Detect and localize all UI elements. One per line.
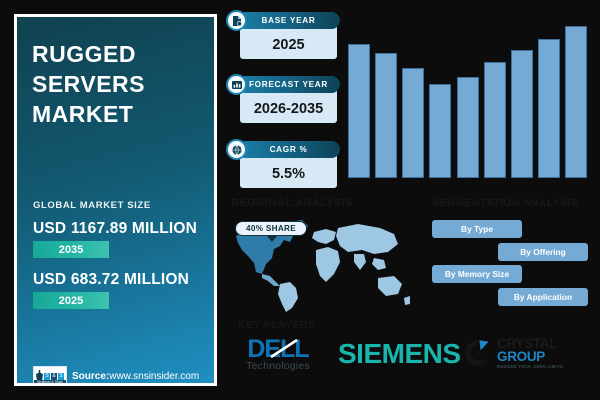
bar-chart-icon bbox=[226, 74, 247, 95]
segment-pill-by-type[interactable]: By Type bbox=[432, 220, 522, 238]
source-row: S&S Strategy & Stats Source:www.snsinsid… bbox=[33, 366, 199, 386]
bar-1 bbox=[348, 44, 370, 178]
infographic-root: RUGGED SERVERS MARKET GLOBAL MARKET SIZE… bbox=[0, 0, 600, 400]
source-text: Source:www.snsinsider.com bbox=[72, 371, 199, 382]
title-line-3: MARKET bbox=[32, 99, 207, 129]
kpi-label-cagr: CAGR % bbox=[237, 141, 340, 158]
bar-3 bbox=[402, 68, 424, 178]
sns-insider-logo-icon: S&S Strategy & Stats bbox=[33, 366, 67, 386]
crystal-tagline: RUGGED TECH. ZERO LIMITS. bbox=[497, 365, 564, 369]
map-region-new-zealand bbox=[404, 296, 410, 305]
source-prefix: Source: bbox=[72, 371, 109, 382]
bar-4 bbox=[429, 84, 451, 178]
bar-8 bbox=[538, 39, 560, 178]
bar-5 bbox=[457, 77, 479, 178]
world-map: 40% SHARE bbox=[228, 216, 413, 314]
bar-6 bbox=[484, 62, 506, 178]
map-region-asia bbox=[336, 224, 398, 254]
logo-siemens: SIEMENS bbox=[338, 338, 461, 370]
key-players-title: KEY PLAYERS bbox=[238, 319, 315, 331]
market-growth-bar-chart bbox=[348, 18, 587, 178]
globe-growth-icon bbox=[226, 139, 247, 160]
crystal-group-wordmark: CRYSTAL GROUP RUGGED TECH. ZERO LIMITS. bbox=[497, 337, 564, 369]
regional-analysis-title: REGIONAL ANALYSIS bbox=[231, 197, 353, 209]
title-line-1: RUGGED bbox=[32, 39, 207, 69]
bar-2 bbox=[375, 53, 397, 178]
global-market-size-label: GLOBAL MARKET SIZE bbox=[33, 200, 151, 211]
year-chip-2025: 2025 bbox=[33, 292, 109, 309]
logo-crystal-group: CRYSTAL GROUP RUGGED TECH. ZERO LIMITS. bbox=[463, 337, 564, 369]
map-region-australia bbox=[378, 276, 402, 296]
segment-pill-by-memory-size[interactable]: By Memory Size bbox=[432, 265, 522, 283]
bar-9 bbox=[565, 26, 587, 178]
crystal-line-2: GROUP bbox=[497, 350, 564, 364]
market-value-2035: USD 1167.89 MILLION bbox=[33, 220, 197, 238]
segment-pill-by-application[interactable]: By Application bbox=[498, 288, 588, 306]
segment-pill-by-offering[interactable]: By Offering bbox=[498, 243, 588, 261]
bar-7 bbox=[511, 50, 533, 178]
logo-dell: DELL Technologies bbox=[232, 336, 324, 372]
kpi-card-forecast-year[interactable]: FORECAST YEAR 2026-2035 bbox=[237, 76, 340, 123]
page-title: RUGGED SERVERS MARKET bbox=[32, 39, 207, 129]
source-url: www.snsinsider.com bbox=[109, 371, 199, 382]
map-region-europe bbox=[312, 229, 336, 244]
kpi-label-base-year: BASE YEAR bbox=[237, 12, 340, 29]
document-icon bbox=[226, 10, 247, 31]
segmentation-analysis-title: SEGMENTATION ANALYSIS bbox=[432, 197, 578, 209]
market-value-2025: USD 683.72 MILLION bbox=[33, 271, 189, 289]
kpi-label-forecast-year: FORECAST YEAR bbox=[237, 76, 340, 93]
crystal-group-mark-icon bbox=[463, 338, 493, 368]
title-line-2: SERVERS bbox=[32, 69, 207, 99]
share-callout-badge: 40% SHARE bbox=[235, 221, 307, 236]
map-region-africa bbox=[316, 247, 340, 282]
kpi-card-base-year[interactable]: BASE YEAR 2025 bbox=[237, 12, 340, 59]
dell-wordmark: DELL bbox=[247, 336, 308, 362]
dell-slash-icon bbox=[269, 339, 299, 359]
kpi-card-cagr[interactable]: CAGR % 5.5% bbox=[237, 141, 340, 188]
map-region-southeast-asia bbox=[372, 258, 386, 270]
left-panel: RUGGED SERVERS MARKET GLOBAL MARKET SIZE… bbox=[14, 14, 217, 386]
year-chip-2035: 2035 bbox=[33, 241, 109, 258]
map-region-south-america bbox=[278, 282, 298, 312]
map-region-central-america bbox=[262, 274, 280, 286]
map-region-india bbox=[354, 254, 366, 270]
